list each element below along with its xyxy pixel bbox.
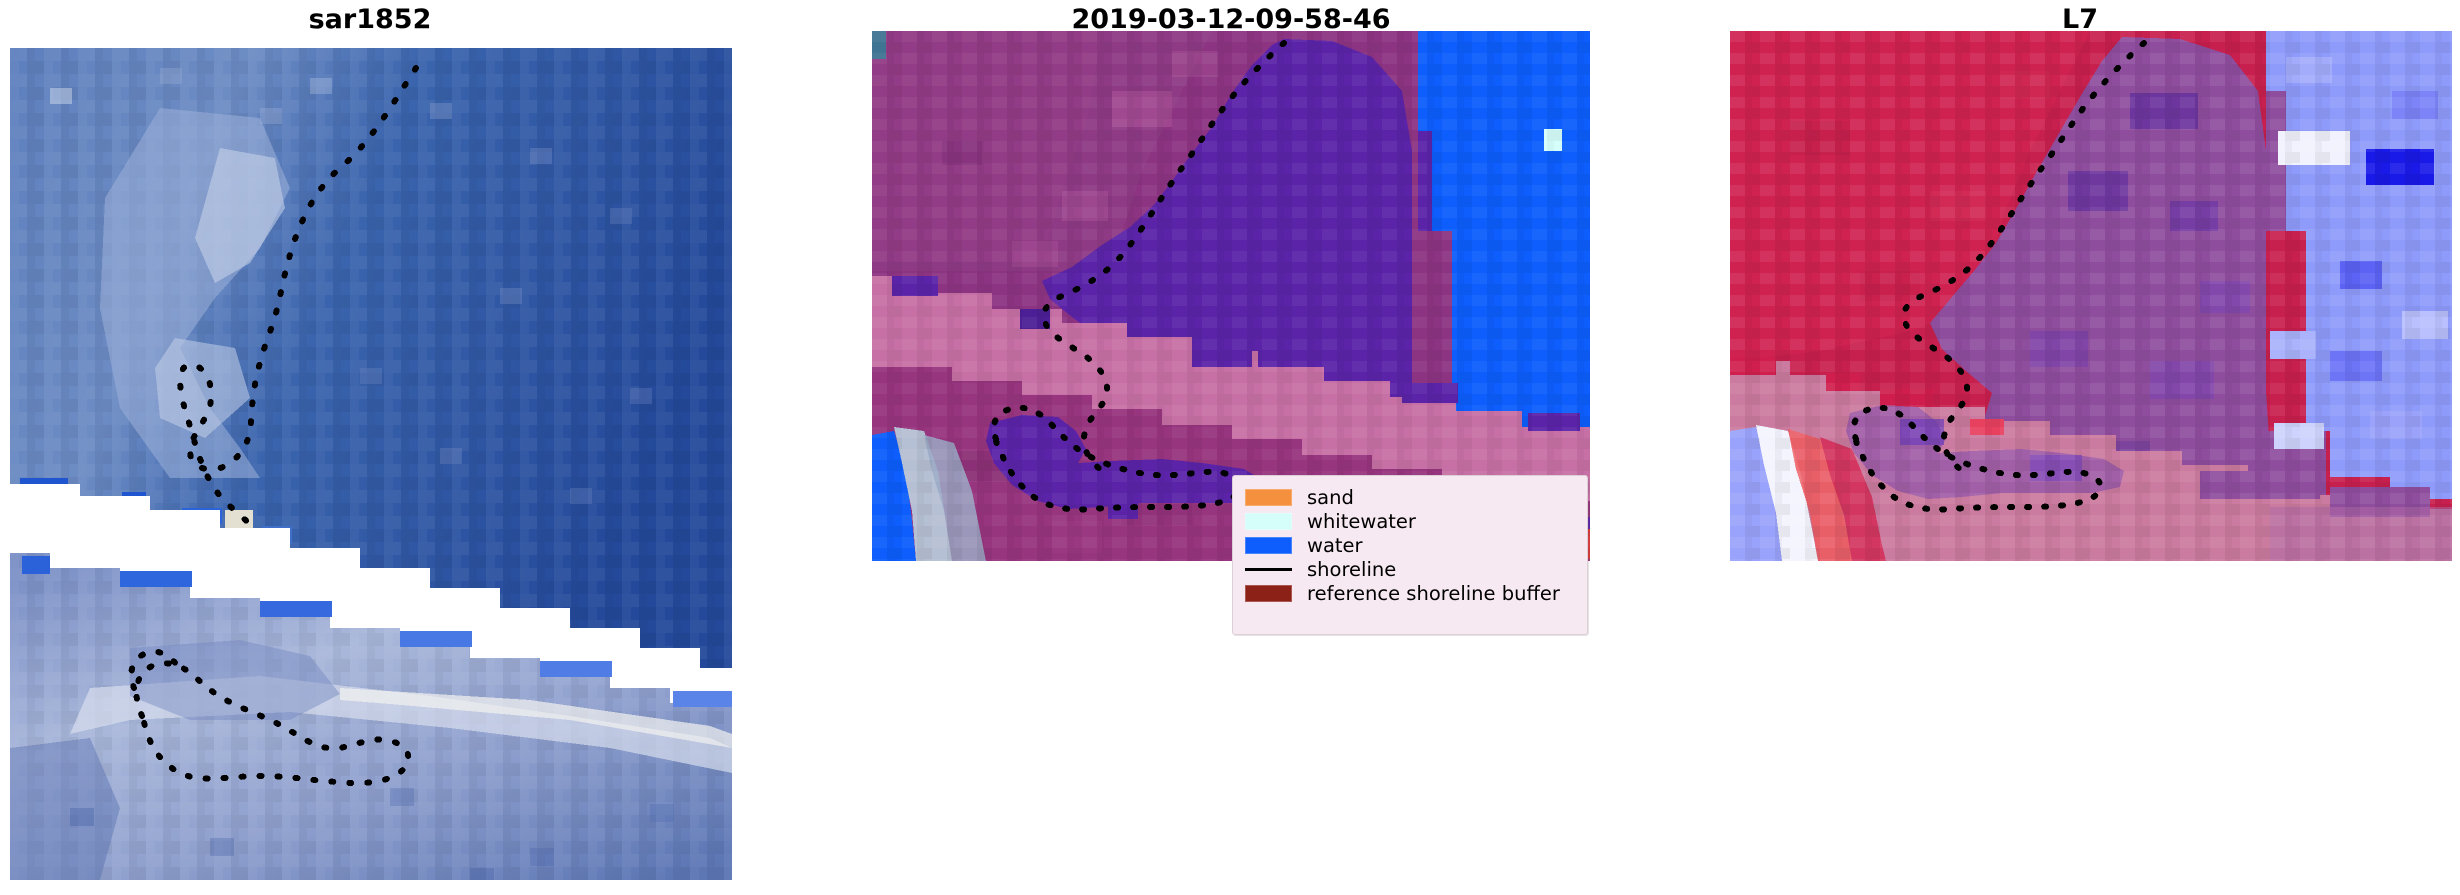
figure-root: sar1852	[0, 0, 2460, 895]
panel-sar-image	[10, 48, 732, 880]
panel-l7: L7	[1700, 0, 2460, 895]
sand-swatch	[1245, 489, 1292, 506]
legend-item-shoreline: shoreline	[1245, 557, 1573, 581]
legend-item-reference-buffer: reference shoreline buffer	[1245, 581, 1573, 605]
legend-item-water: water	[1245, 533, 1573, 557]
legend-label-sand: sand	[1307, 486, 1354, 509]
shoreline-line-swatch	[1245, 561, 1292, 578]
water-swatch	[1245, 537, 1292, 554]
l7-raster	[1730, 31, 2452, 561]
legend-item-sand: sand	[1245, 485, 1573, 509]
panel-sar: sar1852	[0, 0, 740, 895]
panel-l7-image	[1730, 31, 2452, 561]
legend-item-whitewater: whitewater	[1245, 509, 1573, 533]
legend-label-reference-buffer: reference shoreline buffer	[1307, 582, 1560, 605]
legend-label-whitewater: whitewater	[1307, 510, 1416, 533]
sar-raster	[10, 48, 732, 880]
panel-sar-title: sar1852	[0, 4, 740, 35]
legend-label-shoreline: shoreline	[1307, 558, 1396, 581]
panel-classified: 2019-03-12-09-58-46	[840, 0, 1622, 895]
whitewater-swatch	[1245, 513, 1292, 530]
legend-label-water: water	[1307, 534, 1363, 557]
reference-buffer-swatch	[1245, 585, 1292, 602]
legend: sand whitewater water shoreline referenc…	[1232, 475, 1588, 635]
